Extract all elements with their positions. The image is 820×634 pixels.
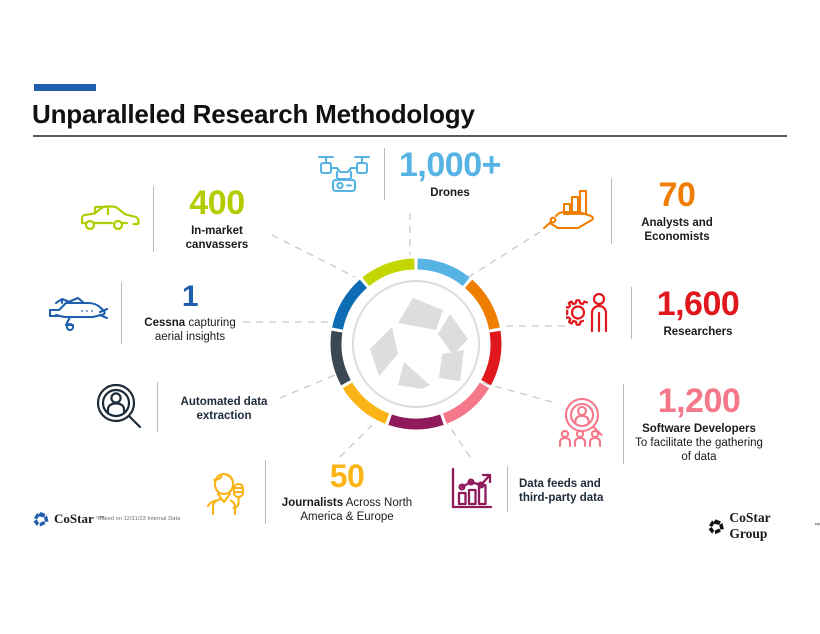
stat-divider (384, 148, 385, 200)
stat-label-primary: Automated data (181, 396, 268, 408)
stat-label: In-market canvassers (165, 224, 269, 252)
stat-label-secondary: canvassers (186, 239, 249, 251)
footnote: ¹Based on 12/31/23 Internal Data (96, 516, 180, 522)
stat-label-primary: Software Developers (642, 423, 756, 435)
stat-number: 50 (277, 460, 417, 492)
stat-number: 1 (133, 282, 247, 312)
stat-text: 1,600 Researchers (643, 287, 753, 339)
magnifier-person-icon (94, 382, 146, 432)
stat-label-secondary: Economists (644, 231, 709, 243)
stat-label-primary: In-market (191, 225, 243, 237)
page-title: Unparalleled Research Methodology (32, 99, 475, 130)
magnifier-team-icon (556, 398, 612, 450)
stat-label: Cessna capturing aerial insights (133, 316, 247, 344)
stat-automated-extraction[interactable]: Automated data extraction (94, 382, 279, 432)
stat-label-secondary: To facilitate the gathering of data (635, 437, 763, 463)
costar-pinwheel-icon (33, 511, 49, 527)
stat-number: 70 (623, 178, 731, 212)
person-gear-icon (566, 289, 620, 337)
stat-text: 400 In-market canvassers (165, 186, 269, 252)
reporter-icon (202, 467, 254, 517)
stat-drones[interactable]: 1,000+ Drones (315, 148, 504, 200)
stat-divider (631, 287, 632, 339)
stat-label-secondary: extraction (197, 410, 252, 422)
slide-canvas: Unparalleled Research Methodology (0, 0, 820, 634)
car-icon (78, 199, 142, 239)
ring-segment-salmon (445, 385, 485, 418)
stat-label: Software Developers To facilitate the ga… (635, 422, 763, 464)
ring-segment-lime (366, 264, 415, 282)
stat-label-primary: Analysts and (641, 217, 713, 229)
stat-text: Data feeds and third-party data (519, 473, 627, 505)
costar-group-logo-tm: ™ (814, 523, 820, 529)
stat-label: Automated data extraction (169, 395, 279, 423)
stat-divider (153, 186, 154, 252)
stat-divider (121, 282, 122, 344)
stat-data-feeds[interactable]: Data feeds and third-party data (448, 466, 627, 512)
stat-number: 1,000+ (396, 148, 504, 182)
ring-segment-amber (348, 385, 388, 418)
ring-segment-orange (469, 284, 495, 329)
ring-segment-slate (336, 332, 346, 383)
stat-number: 400 (165, 186, 269, 220)
costar-logo-left: CoStar ™ (33, 511, 105, 527)
stat-text: 70 Analysts and Economists (623, 178, 731, 244)
stat-journalists[interactable]: 50 Journalists Across North America & Eu… (202, 460, 417, 524)
airplane-icon (44, 290, 110, 336)
methodology-donut-ring (326, 254, 506, 434)
stat-label-primary: Researchers (663, 326, 732, 338)
stat-divider (623, 384, 624, 464)
title-accent-bar (34, 84, 96, 91)
stat-label-primary: Journalists (282, 497, 343, 509)
stat-text: 1,000+ Drones (396, 148, 504, 200)
costar-pinwheel-icon (708, 518, 724, 535)
ring-segment-red (486, 332, 496, 383)
stat-divider (265, 460, 266, 524)
stat-label-primary: Cessna (144, 317, 185, 329)
stat-developers[interactable]: 1,200 Software Developers To facilitate … (556, 384, 763, 464)
stat-label: Researchers (643, 325, 753, 339)
stat-researchers[interactable]: 1,600 Researchers (566, 287, 753, 339)
stat-number: 1,600 (643, 287, 753, 321)
costar-group-logo-right: CoStar Group ™ (708, 510, 820, 542)
stat-canvassers[interactable]: 400 In-market canvassers (78, 186, 269, 252)
stat-text: 50 Journalists Across North America & Eu… (277, 460, 417, 524)
stat-divider (611, 178, 612, 244)
costar-group-logo-text: CoStar Group (729, 510, 809, 542)
title-divider-rule (33, 135, 787, 137)
stat-label: Drones (396, 186, 504, 200)
costar-logo-text: CoStar (54, 511, 94, 527)
stat-label: Data feeds and third-party data (519, 477, 627, 505)
stat-divider (157, 382, 158, 432)
stat-text: 1,200 Software Developers To facilitate … (635, 384, 763, 464)
stat-label-primary: Data feeds and (519, 478, 601, 490)
ring-segment-blue (338, 284, 364, 329)
stat-divider (507, 466, 508, 512)
stat-text: 1 Cessna capturing aerial insights (133, 282, 247, 344)
stat-text: Automated data extraction (169, 391, 279, 423)
drone-icon (315, 150, 373, 198)
ring-segment-magenta (390, 420, 442, 424)
bar-chart-arrow-icon (448, 466, 496, 512)
costar-pinwheel-icon (370, 298, 468, 389)
stat-analysts[interactable]: 70 Analysts and Economists (542, 178, 731, 244)
ring-segment-light-blue (418, 264, 467, 282)
stat-label-primary: Drones (430, 187, 470, 199)
stat-label-secondary: third-party data (519, 492, 603, 504)
stat-number: 1,200 (635, 384, 763, 418)
stat-cessna[interactable]: 1 Cessna capturing aerial insights (44, 282, 247, 344)
hand-chart-icon (542, 187, 600, 235)
stat-label: Journalists Across North America & Europ… (277, 496, 417, 524)
stat-label: Analysts and Economists (623, 216, 731, 244)
